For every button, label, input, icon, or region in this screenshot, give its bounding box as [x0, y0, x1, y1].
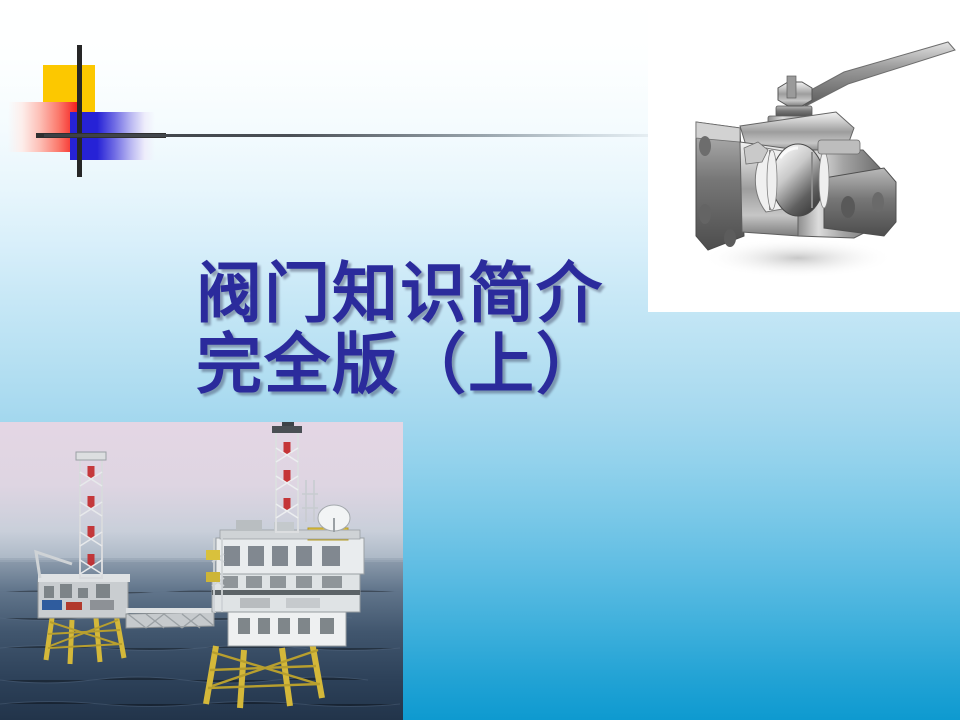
title-line-1: 阀门知识简介 — [120, 258, 680, 329]
logo-vertical-bar — [77, 45, 82, 177]
ball-valve-image-panel — [648, 0, 960, 312]
mondrian-logo — [8, 40, 168, 180]
title-line-2: 完全版（上） — [120, 329, 680, 400]
offshore-platform-image-panel — [0, 422, 403, 720]
title-slide: 阀门知识简介 完全版（上） — [0, 0, 960, 720]
offshore-oil-platform-icon — [0, 422, 403, 720]
logo-red-gradient-block — [8, 102, 78, 152]
ball-valve-cutaway-icon — [648, 0, 960, 312]
header-divider-line — [44, 134, 658, 137]
page-title: 阀门知识简介 完全版（上） — [120, 258, 680, 401]
